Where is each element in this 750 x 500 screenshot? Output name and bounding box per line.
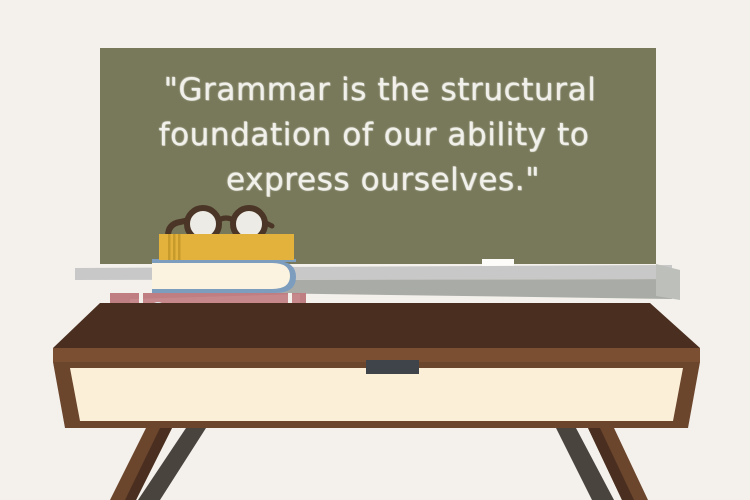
desk-drawer-face	[70, 368, 683, 421]
desk-top-front-edge	[53, 348, 700, 362]
chalkboard-group	[100, 48, 656, 264]
cream-book-group	[152, 259, 296, 293]
drawer-handle[interactable]	[366, 360, 419, 374]
desk-top-surface	[53, 303, 700, 348]
chalkboard-surface	[100, 48, 656, 264]
yellow-book-spine-line-3	[178, 234, 181, 260]
yellow-book-spine-line-2	[173, 234, 176, 260]
chalk-ledge-right-cap	[656, 264, 680, 300]
scene-vector-art	[0, 0, 750, 500]
classroom-quote-illustration: "Grammar is the structural foundation of…	[0, 0, 750, 500]
cream-book-pages	[152, 263, 290, 289]
yellow-book-spine-line-1	[168, 234, 171, 260]
yellow-book-group	[159, 234, 294, 260]
